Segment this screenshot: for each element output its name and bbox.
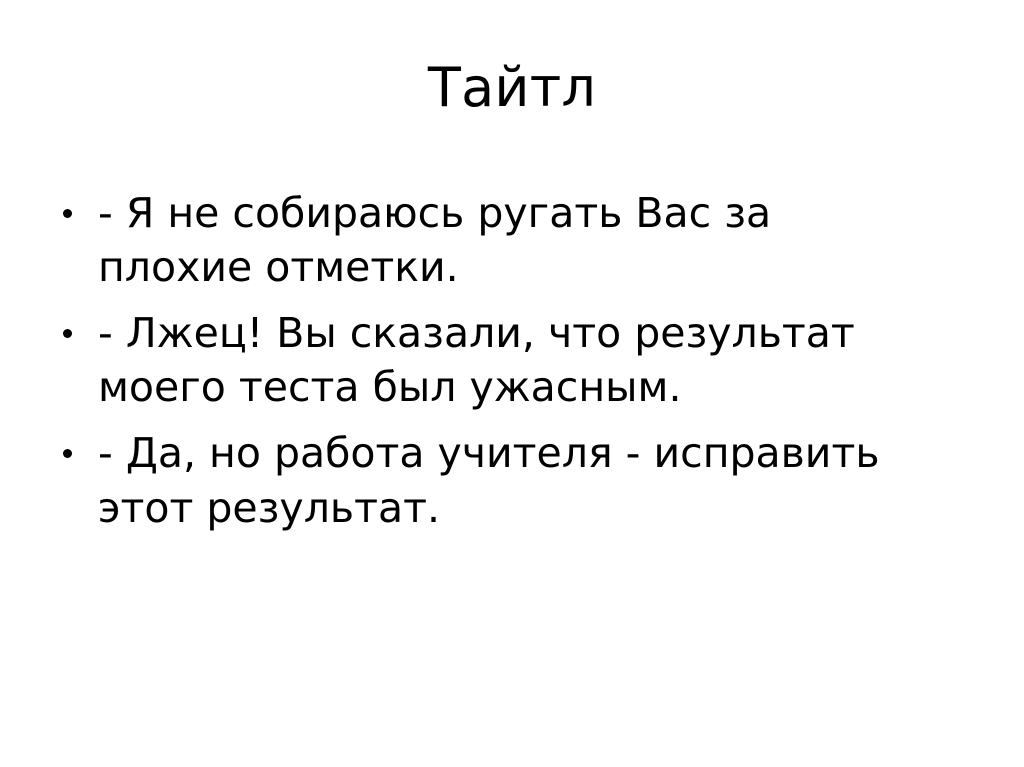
list-item: - Я не собираюсь ругать Вас за плохие от…	[56, 186, 936, 294]
list-item-text: - Я не собираюсь ругать Вас за плохие от…	[98, 186, 936, 294]
list-item: - Лжец! Вы сказали, что результат моего …	[56, 306, 936, 414]
list-item: - Да, но работа учителя - исправить этот…	[56, 426, 936, 534]
bullet-list: - Я не собираюсь ругать Вас за плохие от…	[56, 186, 936, 535]
bullet-dot-icon	[63, 449, 72, 458]
list-item-text: - Да, но работа учителя - исправить этот…	[98, 426, 936, 534]
presentation-slide: Тайтл - Я не собираюсь ругать Вас за пло…	[0, 0, 1024, 767]
page-title: Тайтл	[0, 58, 1024, 118]
bullet-dot-icon	[63, 209, 72, 218]
bullet-dot-icon	[63, 329, 72, 338]
list-item-text: - Лжец! Вы сказали, что результат моего …	[98, 306, 936, 414]
